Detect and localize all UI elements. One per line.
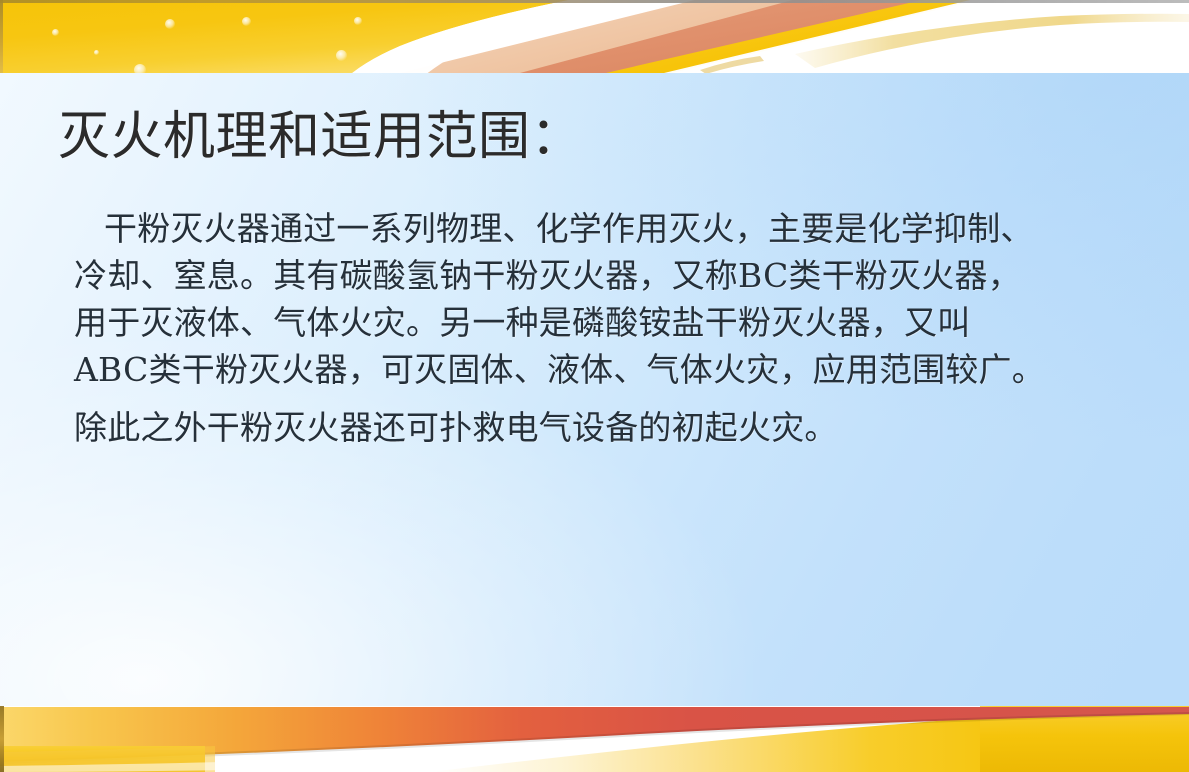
top-decorative-banner — [0, 0, 1189, 73]
bottom-decorative-banner — [0, 706, 1189, 772]
banner-left-rule — [0, 0, 3, 73]
body-line: 用于灭液体、气体火灾。另一种是磷酸铵盐干粉灭火器，又叫 — [74, 299, 1144, 346]
slide-content: 灭火机理和适用范围： 干粉灭火器通过一系列物理、化学作用灭火，主要是化学抑制、 … — [0, 73, 1189, 706]
slide-title: 灭火机理和适用范围： — [58, 111, 583, 163]
top-banner-graphic — [0, 0, 1189, 73]
presentation-slide: 灭火机理和适用范围： 干粉灭火器通过一系列物理、化学作用灭火，主要是化学抑制、 … — [0, 0, 1189, 772]
body-line: 冷却、窒息。其有碳酸氢钠干粉灭火器，又称BC类干粉灭火器， — [74, 252, 1144, 299]
body-line: 干粉灭火器通过一系列物理、化学作用灭火，主要是化学抑制、 — [74, 205, 1144, 252]
body-line: 除此之外干粉灭火器还可扑救电气设备的初起火灾。 — [74, 404, 1144, 451]
bottom-banner-graphic — [0, 706, 1189, 772]
body-line: ABC类干粉灭火器，可灭固体、液体、气体火灾，应用范围较广。 — [74, 346, 1144, 393]
slide-body-text: 干粉灭火器通过一系列物理、化学作用灭火，主要是化学抑制、 冷却、窒息。其有碳酸氢… — [74, 205, 1144, 451]
banner-top-rule — [0, 0, 1189, 3]
bottom-banner-left-rule — [0, 706, 4, 772]
